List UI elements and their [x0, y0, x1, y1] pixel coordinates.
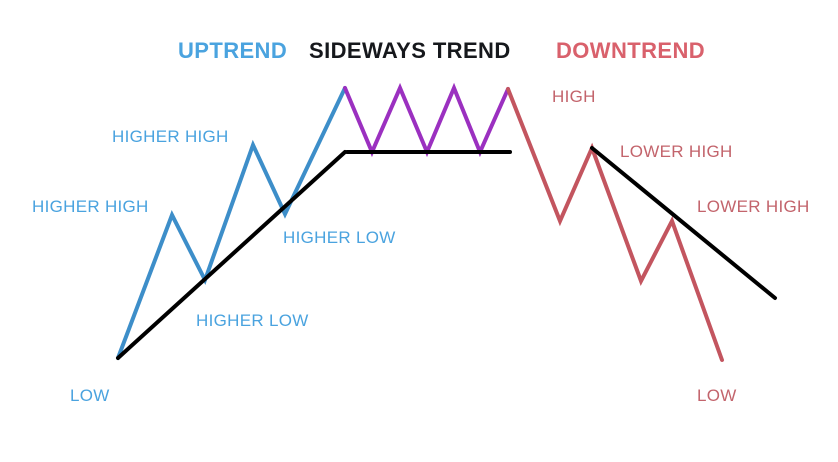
point-label: HIGHER HIGH [32, 198, 149, 215]
point-label: HIGHER HIGH [112, 128, 229, 145]
point-label: HIGHER LOW [283, 229, 396, 246]
series-line [345, 88, 508, 152]
point-label: LOWER HIGH [620, 143, 733, 160]
point-label: LOWER HIGH [697, 198, 810, 215]
point-label: HIGH [552, 88, 596, 105]
series-line [508, 89, 722, 360]
point-label: HIGHER LOW [196, 312, 309, 329]
point-label: LOW [697, 387, 737, 404]
trend-title: SIDEWAYS TREND [309, 40, 511, 62]
trend-title: DOWNTREND [556, 40, 705, 62]
trend-title: UPTREND [178, 40, 287, 62]
trend-diagram: UPTRENDSIDEWAYS TRENDDOWNTREND HIGHER HI… [0, 0, 838, 462]
point-label: LOW [70, 387, 110, 404]
